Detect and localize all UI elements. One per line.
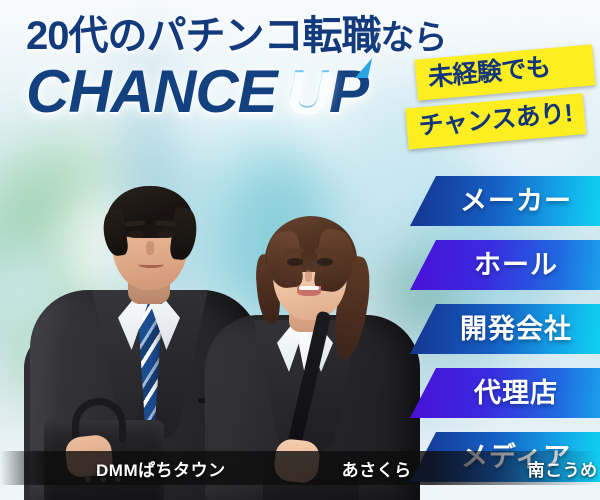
- female-nose: [305, 270, 312, 282]
- credits-strip: DMMぱちタウンあさくら南こうめ: [0, 451, 600, 485]
- male-nose: [146, 241, 154, 255]
- female-eye-right: [317, 258, 333, 266]
- credits-person-1: あさくら: [342, 461, 412, 480]
- female-teeth: [299, 286, 319, 290]
- credits-person-2: 南こうめ: [528, 461, 598, 480]
- job-category-list: メーカー ホール 開発会社 代理店 メディア: [410, 176, 600, 482]
- male-eye-left: [127, 231, 144, 238]
- category-bar-agency[interactable]: 代理店: [410, 368, 600, 418]
- female-eye-left: [287, 258, 303, 266]
- category-label: メーカー: [460, 188, 572, 215]
- category-label: 開発会社: [460, 316, 572, 343]
- category-label: 代理店: [474, 380, 558, 407]
- category-bar-maker[interactable]: メーカー: [410, 176, 600, 226]
- credits-site: DMMぱちタウン: [96, 461, 226, 480]
- male-eye-right: [158, 231, 175, 238]
- credits-text: DMMぱちタウンあさくら南こうめ: [48, 456, 598, 481]
- advertisement-banner[interactable]: 20代のパチンコ転職なら CHANCEUP 未経験でも チャンスあり! メーカー…: [0, 0, 600, 500]
- category-label: ホール: [474, 252, 558, 279]
- badge-line-1: 未経験でも: [414, 44, 595, 100]
- category-bar-hall[interactable]: ホール: [410, 240, 600, 290]
- models-photo: [0, 140, 430, 500]
- inexperienced-welcome-badge: 未経験でも チャンスあり!: [416, 52, 594, 134]
- category-bar-development[interactable]: 開発会社: [410, 304, 600, 354]
- male-mouth: [138, 261, 164, 268]
